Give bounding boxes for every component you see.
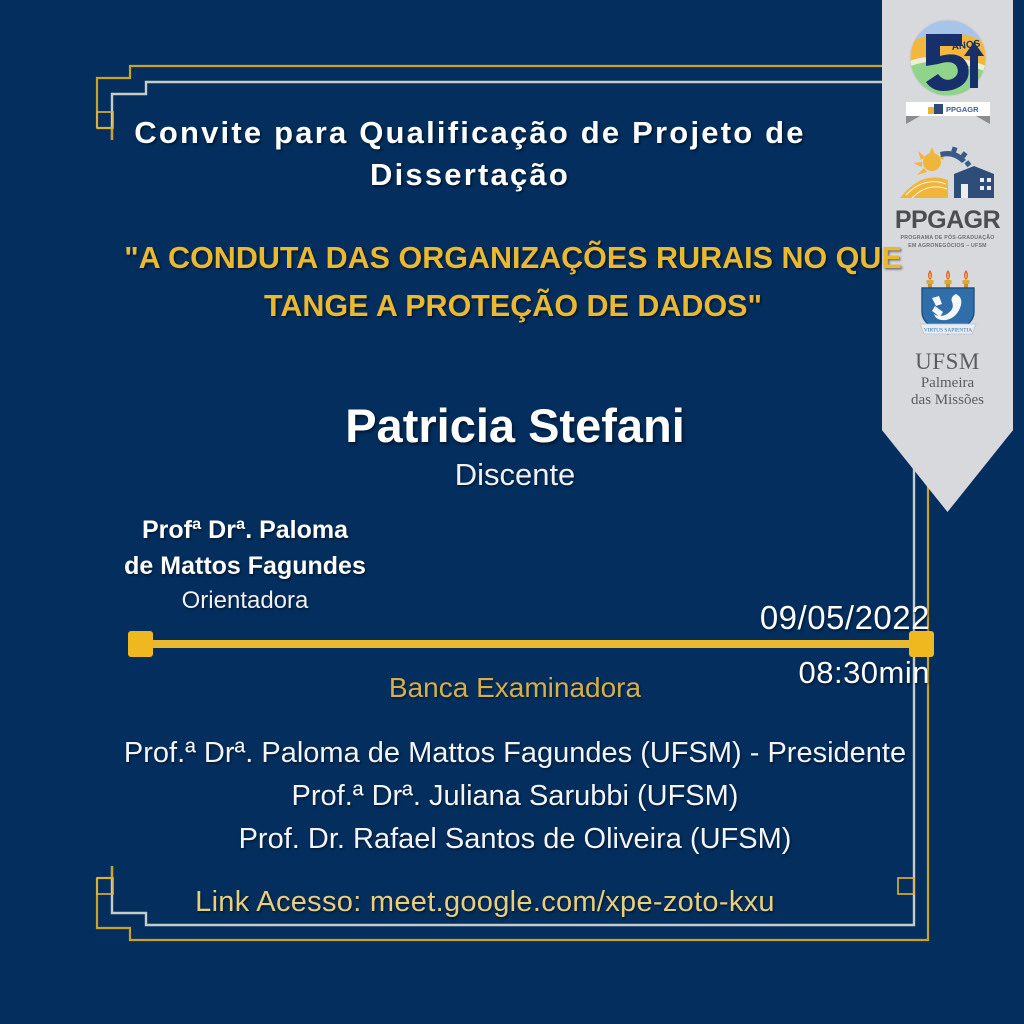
student-role: Discente xyxy=(100,457,930,493)
advisor-name-line1: Profª Drª. Paloma xyxy=(90,512,400,548)
divider-cap-left xyxy=(128,631,153,657)
invitation-poster: ANOS PPGAGR xyxy=(0,0,1024,1024)
event-date: 09/05/2022 xyxy=(640,599,930,637)
access-link-row: Link Acesso: meet.google.com/xpe-zoto-kx… xyxy=(70,886,900,919)
access-link-url[interactable]: meet.google.com/xpe-zoto-kxu xyxy=(370,886,775,918)
committee-member: Prof.ª Drª. Paloma de Mattos Fagundes (U… xyxy=(50,732,980,775)
committee-list: Prof.ª Drª. Paloma de Mattos Fagundes (U… xyxy=(50,732,980,861)
advisor-role: Orientadora xyxy=(90,587,400,615)
page-title: Convite para Qualificação de Projeto de … xyxy=(60,112,880,196)
work-title: "A CONDUTA DAS ORGANIZAÇÕES RURAIS NO QU… xyxy=(108,235,918,330)
access-link-label: Link Acesso: xyxy=(195,886,361,918)
committee-heading: Banca Examinadora xyxy=(100,672,930,704)
committee-member: Prof.ª Drª. Juliana Sarubbi (UFSM) xyxy=(50,775,980,818)
poster-content: Convite para Qualificação de Projeto de … xyxy=(0,0,1024,1024)
divider-cap-right xyxy=(909,631,934,657)
committee-member: Prof. Dr. Rafael Santos de Oliveira (UFS… xyxy=(50,818,980,861)
gold-divider-rule xyxy=(128,640,934,648)
advisor-name: Profª Drª. Paloma de Mattos Fagundes xyxy=(90,512,400,585)
student-name: Patricia Stefani xyxy=(100,398,930,453)
advisor-name-line2: de Mattos Fagundes xyxy=(90,548,400,584)
